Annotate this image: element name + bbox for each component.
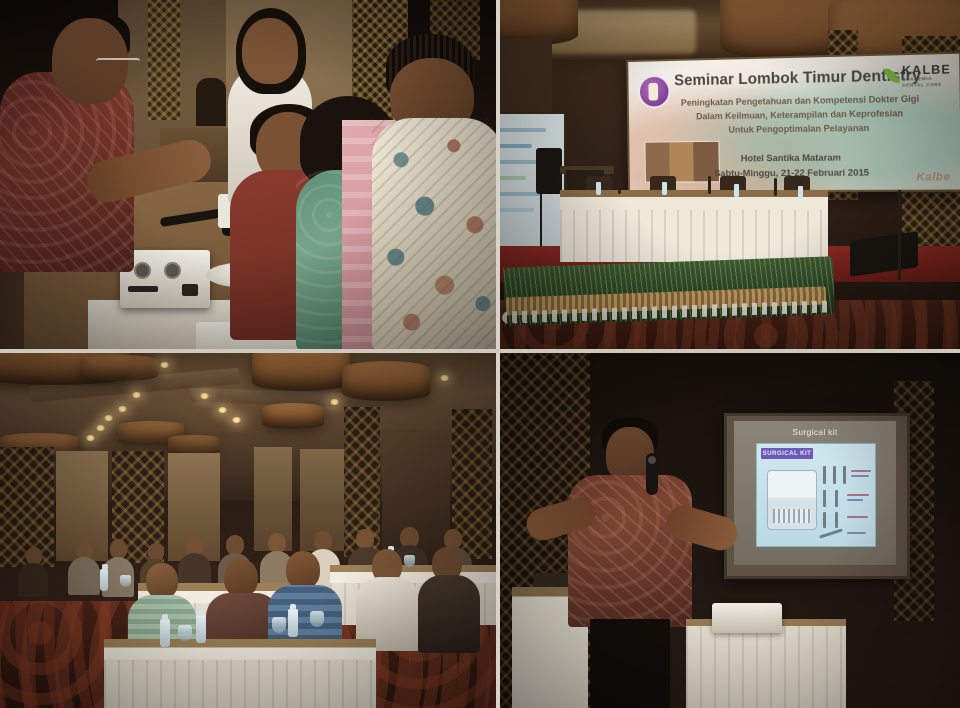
instrument-3 bbox=[843, 466, 846, 484]
trousers bbox=[590, 619, 670, 708]
surgical-kit-case-on-table bbox=[712, 603, 782, 633]
brown-batik-shirt bbox=[568, 475, 692, 627]
head-table bbox=[560, 190, 828, 262]
water-bottle-2 bbox=[662, 182, 667, 195]
panel-workshop: Hands-on workshop: participants gathered… bbox=[0, 0, 498, 351]
water-bottle-1 bbox=[596, 182, 601, 195]
background-person bbox=[196, 78, 226, 126]
attendee-head bbox=[444, 529, 462, 549]
instrument-7 bbox=[835, 512, 838, 528]
water-bottle bbox=[196, 615, 206, 643]
water-bottle-3 bbox=[734, 184, 739, 197]
attendee-torso bbox=[18, 563, 48, 597]
instrument-6 bbox=[823, 512, 826, 528]
drinking-glass bbox=[310, 611, 324, 627]
banner-subtitle: Peningkatan Pengetahuan dan Kompetensi D… bbox=[661, 91, 941, 138]
drinking-glass bbox=[120, 575, 131, 587]
attendee-head bbox=[356, 529, 374, 549]
ceiling-spotlight-10 bbox=[330, 399, 339, 405]
instrument-label-4 bbox=[847, 499, 863, 501]
water-bottle bbox=[100, 569, 108, 591]
kalbe-tagline-2: DENTAL CARE bbox=[902, 82, 951, 89]
ceiling-spotlight-5 bbox=[96, 425, 105, 431]
water-bottle-4 bbox=[798, 186, 803, 199]
ceiling-spotlight-2 bbox=[132, 392, 141, 398]
slide-header-bar: SURGICAL KIT bbox=[761, 448, 813, 459]
handheld-microphone bbox=[646, 453, 658, 495]
panel-speaker-presentation: Surgical kit SURGICAL KIT bbox=[498, 351, 960, 708]
instrument-label-3 bbox=[847, 494, 869, 496]
kalbe-logo: KALBE ACADEMIA DENTAL CARE bbox=[902, 63, 951, 89]
attendee-head-young-man bbox=[146, 563, 178, 599]
collage-divider-horizontal bbox=[0, 349, 960, 353]
drinking-glass bbox=[178, 625, 192, 641]
colorful-batik-shirt bbox=[372, 118, 498, 350]
lattice-screen-left bbox=[148, 0, 180, 120]
ceiling-spotlight-1 bbox=[160, 362, 169, 368]
control-knob-b bbox=[164, 262, 181, 279]
panel-audience-hall: Ballroom audience seated at skirted tabl… bbox=[0, 351, 498, 708]
attendee-torso bbox=[68, 557, 100, 595]
banner-venue: Hotel Santika Mataram bbox=[667, 149, 918, 166]
surgical-kit-case-image bbox=[767, 470, 817, 530]
instrument-probe bbox=[819, 528, 843, 538]
pendant-lamp-5 bbox=[262, 403, 324, 429]
ceiling-spotlight-11 bbox=[440, 375, 449, 381]
attendee-head bbox=[268, 533, 286, 553]
instrument-label-2 bbox=[851, 475, 869, 477]
ceiling-spotlight-7 bbox=[200, 393, 209, 399]
table-microphone-2 bbox=[708, 176, 711, 194]
ceiling-spotlight-4 bbox=[104, 415, 113, 421]
pendant-lamp-4 bbox=[342, 361, 430, 401]
attendee-head bbox=[226, 535, 244, 555]
attendee-head bbox=[314, 531, 332, 551]
banner-watermark: Kalbe bbox=[916, 171, 950, 183]
pendant-lamp-3 bbox=[252, 351, 350, 391]
table-microphone-3 bbox=[774, 178, 777, 196]
eyeglasses-icon bbox=[96, 58, 140, 72]
collage-divider-vertical bbox=[496, 0, 500, 708]
instrument-1 bbox=[823, 466, 826, 484]
ceiling-spotlight-6 bbox=[86, 435, 95, 441]
attendee-torso-plaid bbox=[268, 585, 342, 647]
stand-pole bbox=[898, 190, 901, 280]
attendee-head-man-right bbox=[286, 551, 320, 589]
control-knob-a bbox=[134, 262, 151, 279]
table-microphone-1 bbox=[618, 176, 621, 194]
attendee-head-man-center bbox=[224, 559, 258, 597]
instrument-2 bbox=[833, 466, 836, 484]
pendant-lamp-8 bbox=[168, 435, 220, 455]
instrument-label-1 bbox=[851, 470, 871, 472]
slide-screen-title: Surgical kit bbox=[734, 427, 896, 437]
slide-header-text: SURGICAL KIT bbox=[761, 448, 813, 459]
ceiling-spotlight-9 bbox=[232, 417, 241, 423]
panel-stage-banner: Seminar Lombok Timur Dentistry KALBE ACA… bbox=[498, 0, 960, 351]
instrument-5 bbox=[835, 490, 838, 507]
attendee-torso-far-right bbox=[418, 575, 480, 653]
instrument-label-5 bbox=[847, 516, 868, 518]
pendant-lamp-2 bbox=[80, 355, 158, 381]
slide-surgical-kit: SURGICAL KIT bbox=[756, 443, 876, 547]
kalbe-wordmark: KALBE bbox=[902, 63, 951, 76]
event-backdrop-banner: Seminar Lombok Timur Dentistry KALBE ACA… bbox=[626, 52, 960, 193]
drinking-glass bbox=[404, 555, 415, 567]
instrument-4 bbox=[823, 490, 826, 507]
water-bottle bbox=[160, 619, 170, 647]
head bbox=[242, 18, 298, 84]
panel-workshop-caption: Hands-on workshop: participants gathered… bbox=[0, 0, 1, 1]
attendee-head bbox=[110, 539, 127, 559]
ceiling-spotlight-3 bbox=[118, 406, 127, 412]
audience-table-front bbox=[104, 639, 376, 708]
drinking-glass bbox=[272, 617, 286, 633]
pa-speaker bbox=[536, 148, 562, 194]
photo-collage: Hands-on workshop: participants gathered… bbox=[0, 0, 960, 708]
ceiling-spotlight-8 bbox=[218, 407, 227, 413]
instrument-label-6 bbox=[847, 532, 866, 534]
water-bottle bbox=[288, 609, 298, 637]
